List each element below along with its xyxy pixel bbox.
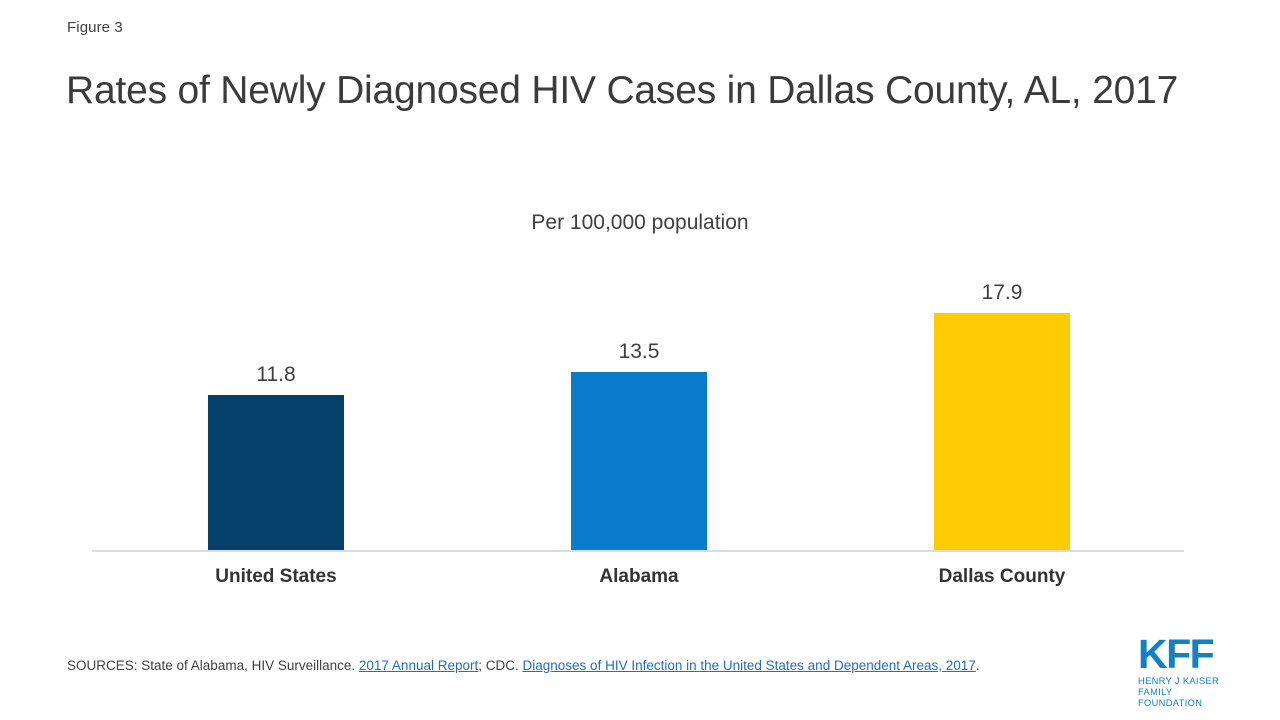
kff-logo: KFF HENRY J KAISER FAMILY FOUNDATION xyxy=(1138,636,1238,698)
source-link-cdc-diagnoses[interactable]: Diagnoses of HIV Infection in the United… xyxy=(523,658,976,673)
bar-value-label: 11.8 xyxy=(256,364,295,385)
x-label-alabama: Alabama xyxy=(571,566,707,588)
figure-label: Figure 3 xyxy=(67,19,123,36)
bar-chart-plot-area: 11.8 13.5 17.9 xyxy=(92,260,1184,552)
bar-rect-dallas-county[interactable] xyxy=(934,313,1070,552)
x-label-dallas-county: Dallas County xyxy=(934,566,1070,588)
bar-rect-alabama[interactable] xyxy=(571,372,707,552)
x-label-united-states: United States xyxy=(208,566,344,588)
bar-group-0: 11.8 xyxy=(208,260,344,552)
chart-subtitle: Per 100,000 population xyxy=(0,211,1280,235)
kff-tagline-line2: FAMILY FOUNDATION xyxy=(1138,687,1238,710)
sources-middle: ; CDC. xyxy=(478,658,522,673)
x-axis-category-labels: United States Alabama Dallas County xyxy=(92,566,1184,598)
bar-value-label: 17.9 xyxy=(982,282,1023,303)
page-title: Rates of Newly Diagnosed HIV Cases in Da… xyxy=(66,66,1216,115)
sources-prefix: SOURCES: State of Alabama, HIV Surveilla… xyxy=(67,658,359,673)
slide-canvas: Figure 3 Rates of Newly Diagnosed HIV Ca… xyxy=(0,0,1280,720)
sources-note: SOURCES: State of Alabama, HIV Surveilla… xyxy=(67,655,1067,677)
bar-group-1: 13.5 xyxy=(571,260,707,552)
bar-value-label: 13.5 xyxy=(619,341,660,362)
bar-rect-united-states[interactable] xyxy=(208,395,344,552)
kff-tagline-line1: HENRY J KAISER xyxy=(1138,676,1238,687)
source-link-annual-report[interactable]: 2017 Annual Report xyxy=(359,658,478,673)
sources-suffix: . xyxy=(976,658,980,673)
bar-group-2: 17.9 xyxy=(934,260,1070,552)
x-axis-line xyxy=(92,550,1184,552)
kff-wordmark: KFF xyxy=(1138,636,1238,674)
